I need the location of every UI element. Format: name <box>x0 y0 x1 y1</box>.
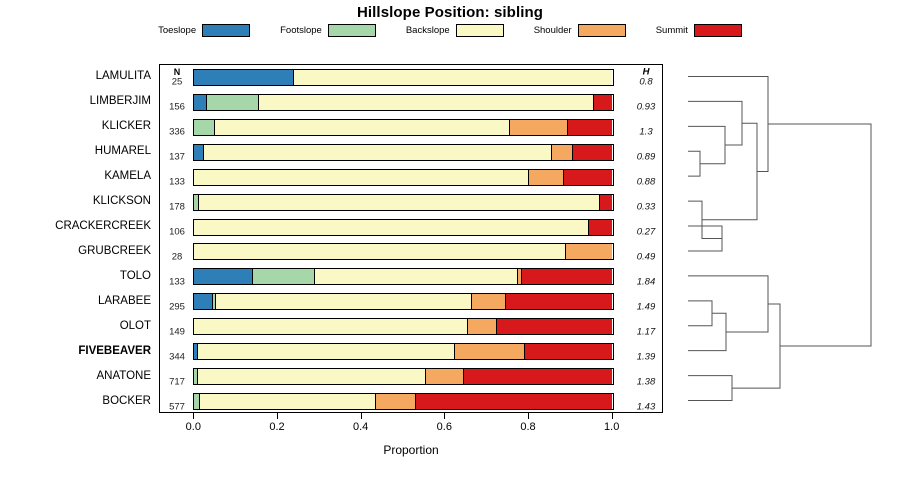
segment-shoulder <box>455 344 524 359</box>
x-tick <box>193 413 194 419</box>
row-label-klickson: KLICKSON <box>93 195 151 207</box>
row-label-olot: OLOT <box>120 320 151 332</box>
segment-summit <box>594 95 613 110</box>
segment-summit <box>525 344 613 359</box>
stacked-bar-humarel <box>193 144 614 161</box>
n-value: 137 <box>169 152 185 163</box>
row-label-grubcreek: GRUBCREEK <box>78 245 151 257</box>
segment-shoulder <box>472 294 505 309</box>
row-label-kamela: KAMELA <box>104 170 151 182</box>
legend-label: Footslope <box>280 25 322 36</box>
row-label-limberjim: LIMBERJIM <box>90 95 151 107</box>
legend-swatch-toeslope <box>202 24 250 37</box>
legend-item-shoulder: Shoulder <box>534 24 626 37</box>
segment-toeslope <box>194 70 294 85</box>
segment-shoulder <box>510 120 569 135</box>
x-axis: 0.00.20.40.60.81.0 <box>159 413 663 443</box>
x-axis-label: Proportion <box>159 443 663 457</box>
x-tick-label: 0.4 <box>353 421 368 433</box>
segment-toeslope <box>194 269 253 284</box>
n-column-header: N <box>174 67 181 77</box>
n-value: 344 <box>169 351 185 362</box>
n-value: 295 <box>169 301 185 312</box>
n-value: 133 <box>169 276 185 287</box>
x-tick <box>361 413 362 419</box>
stacked-bar-lamulita <box>193 69 614 86</box>
segment-footslope <box>194 120 215 135</box>
n-value: 577 <box>169 401 185 412</box>
row-label-bocker: BOCKER <box>102 395 151 407</box>
stacked-bar-kamela <box>193 169 614 186</box>
x-tick <box>444 413 445 419</box>
h-value: 1.84 <box>637 276 656 287</box>
legend: ToeslopeFootslopeBackslopeShoulderSummit <box>0 24 900 44</box>
segment-backslope <box>194 319 468 334</box>
h-value: 1.3 <box>639 127 652 138</box>
legend-label: Summit <box>656 25 688 36</box>
segment-summit <box>506 294 613 309</box>
stacked-bar-limberjim <box>193 94 614 111</box>
segment-summit <box>464 369 613 384</box>
h-value: 0.93 <box>637 102 656 113</box>
n-value: 149 <box>169 326 185 337</box>
row-label-klicker: KLICKER <box>102 120 151 132</box>
h-value: 0.27 <box>637 227 656 238</box>
segment-summit <box>416 394 613 409</box>
x-tick-label: 1.0 <box>604 421 619 433</box>
n-value: 28 <box>172 251 183 262</box>
page-title: Hillslope Position: sibling <box>0 4 900 21</box>
segment-footslope <box>207 95 259 110</box>
h-value: 1.43 <box>637 401 656 412</box>
legend-swatch-summit <box>694 24 742 37</box>
segment-toeslope <box>194 95 207 110</box>
legend-item-footslope: Footslope <box>280 24 376 37</box>
stacked-bar-olot <box>193 318 614 335</box>
row-label-lamulita: LAMULITA <box>96 70 151 82</box>
segment-backslope <box>194 244 566 259</box>
segment-summit <box>589 220 612 235</box>
x-tick <box>528 413 529 419</box>
segment-backslope <box>198 369 426 384</box>
h-value: 0.88 <box>637 177 656 188</box>
x-tick-label: 0.8 <box>520 421 535 433</box>
segment-backslope <box>204 145 551 160</box>
segment-summit <box>522 269 612 284</box>
legend-item-toeslope: Toeslope <box>158 24 250 37</box>
n-value: 156 <box>169 102 185 113</box>
stacked-bar-bocker <box>193 393 614 410</box>
h-value: 1.49 <box>637 301 656 312</box>
segment-toeslope <box>194 145 204 160</box>
segment-backslope <box>198 344 455 359</box>
h-value: 0.8 <box>639 77 652 88</box>
row-label-humarel: HUMAREL <box>95 145 151 157</box>
segment-shoulder <box>552 145 573 160</box>
legend-label: Toeslope <box>158 25 196 36</box>
segment-shoulder <box>426 369 464 384</box>
h-value: 0.49 <box>637 251 656 262</box>
segment-shoulder <box>468 319 497 334</box>
stacked-bar-grubcreek <box>193 243 614 260</box>
segment-footslope <box>253 269 316 284</box>
plot-frame: NH250.81560.933361.31370.891330.881780.3… <box>159 64 663 413</box>
n-value: 717 <box>169 376 185 387</box>
segment-summit <box>497 319 612 334</box>
legend-label: Shoulder <box>534 25 572 36</box>
stacked-bar-klickson <box>193 194 614 211</box>
segment-backslope <box>215 120 510 135</box>
row-label-column: LAMULITALIMBERJIMKLICKERHUMARELKAMELAKLI… <box>0 64 155 413</box>
stacked-bar-tolo <box>193 268 614 285</box>
legend-swatch-footslope <box>328 24 376 37</box>
stacked-bar-klicker <box>193 119 614 136</box>
segment-summit <box>568 120 612 135</box>
n-value: 25 <box>172 77 183 88</box>
h-value: 1.39 <box>637 351 656 362</box>
x-tick-label: 0.0 <box>186 421 201 433</box>
segment-backslope <box>194 220 589 235</box>
chart-root: Hillslope Position: sibling ToeslopeFoot… <box>0 0 900 480</box>
segment-backslope <box>259 95 594 110</box>
h-value: 0.33 <box>637 202 656 213</box>
legend-label: Backslope <box>406 25 450 36</box>
n-value: 336 <box>169 127 185 138</box>
row-label-tolo: TOLO <box>120 270 151 282</box>
stacked-bar-anatone <box>193 368 614 385</box>
segment-backslope <box>294 70 612 85</box>
n-value: 133 <box>169 177 185 188</box>
x-tick <box>277 413 278 419</box>
segment-shoulder <box>566 244 612 259</box>
row-label-anatone: ANATONE <box>96 370 151 382</box>
legend-swatch-shoulder <box>578 24 626 37</box>
segment-summit <box>573 145 613 160</box>
row-label-larabee: LARABEE <box>98 295 151 307</box>
stacked-bar-crackercreek <box>193 219 614 236</box>
legend-item-summit: Summit <box>656 24 742 37</box>
segment-backslope <box>194 170 529 185</box>
x-tick-label: 0.2 <box>269 421 284 433</box>
h-column-header: H <box>643 67 650 78</box>
stacked-bar-fivebeaver <box>193 343 614 360</box>
h-value: 0.89 <box>637 152 656 163</box>
segment-summit <box>600 195 613 210</box>
segment-backslope <box>199 195 599 210</box>
segment-backslope <box>315 269 518 284</box>
segment-backslope <box>216 294 472 309</box>
stacked-bar-larabee <box>193 293 614 310</box>
h-value: 1.38 <box>637 376 656 387</box>
row-label-crackercreek: CRACKERCREEK <box>55 220 151 232</box>
segment-backslope <box>200 394 376 409</box>
dendrogram <box>663 64 900 413</box>
segment-summit <box>564 170 612 185</box>
n-value: 106 <box>169 227 185 238</box>
segment-shoulder <box>376 394 416 409</box>
h-value: 1.17 <box>637 326 656 337</box>
legend-item-backslope: Backslope <box>406 24 504 37</box>
row-label-fivebeaver: FIVEBEAVER <box>78 345 151 357</box>
segment-shoulder <box>529 170 565 185</box>
n-value: 178 <box>169 202 185 213</box>
x-tick-label: 0.6 <box>437 421 452 433</box>
legend-swatch-backslope <box>456 24 504 37</box>
x-tick <box>612 413 613 419</box>
segment-toeslope <box>194 294 213 309</box>
